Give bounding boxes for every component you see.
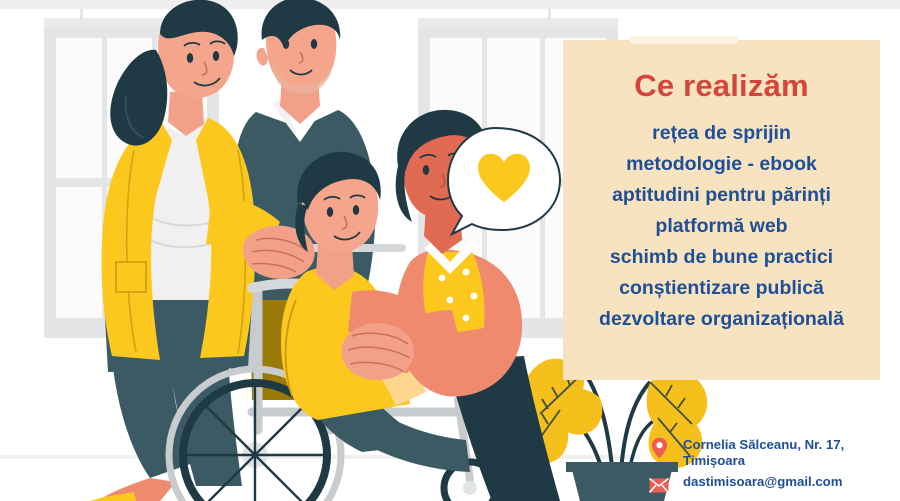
list-item: dezvoltare organizațională [563,304,880,335]
list-item: rețea de sprijin [563,118,880,149]
poster-canvas: Ce realizăm rețea de sprijin metodologie… [0,0,900,501]
location-pin-icon [648,436,670,460]
list-item: aptitudini pentru părinți [563,180,880,211]
contact-email-text[interactable]: dastimisoara@gmail.com [683,473,842,490]
ceiling-strip [0,0,900,9]
envelope-icon [648,473,670,497]
contact-address-text: Cornelia Sălceanu, Nr. 17, Timișoara [683,436,900,468]
list-item: schimb de bune practici [563,242,880,273]
deliverables-list: rețea de sprijin metodologie - ebook apt… [563,118,880,335]
list-item: conștientizare publică [563,273,880,304]
list-item: metodologie - ebook [563,149,880,180]
contact-block: Cornelia Sălceanu, Nr. 17, Timișoara das… [648,436,900,501]
info-panel: Ce realizăm rețea de sprijin metodologie… [563,40,880,380]
contact-row-address: Cornelia Sălceanu, Nr. 17, Timișoara [648,436,900,468]
list-item: platformă web [563,211,880,242]
panel-notch [629,36,739,44]
contact-row-email[interactable]: dastimisoara@gmail.com [648,473,900,497]
panel-title: Ce realizăm [563,68,880,104]
